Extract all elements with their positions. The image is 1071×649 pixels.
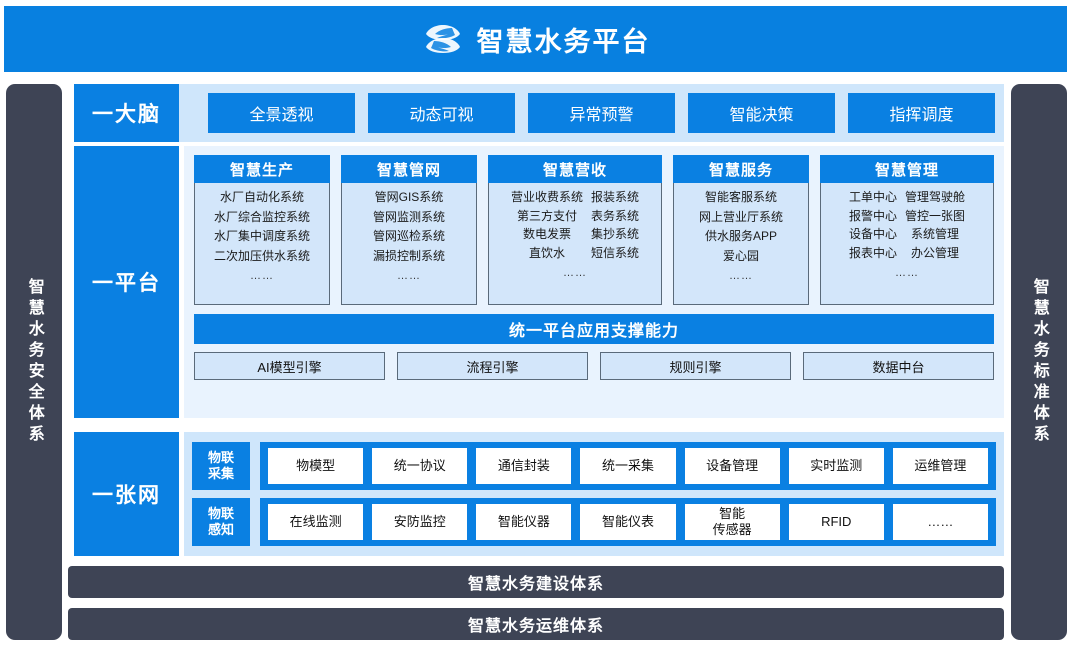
- engine-chip[interactable]: 流程引擎: [397, 352, 588, 380]
- app-column-title: 智慧生产: [194, 155, 330, 183]
- app-column-production: 智慧生产 水厂自动化系统 水厂综合监控系统 水厂集中调度系统 二次加压供水系统 …: [194, 155, 330, 305]
- app-column-title: 智慧管理: [820, 155, 994, 183]
- app-more-indicator: ……: [895, 265, 919, 282]
- brain-chip[interactable]: 指挥调度: [848, 93, 995, 133]
- network-chip[interactable]: 设备管理: [685, 448, 780, 484]
- app-column-service: 智慧服务 智能客服系统 网上营业厅系统 供水服务APP 爱心园 ……: [673, 155, 809, 305]
- brain-chip[interactable]: 智能决策: [688, 93, 835, 133]
- network-sub-label-line1: 物联: [208, 450, 234, 466]
- brain-chip[interactable]: 异常预警: [528, 93, 675, 133]
- app-item[interactable]: 办公管理: [911, 244, 959, 263]
- water-leaf-logo-icon: [421, 18, 465, 60]
- app-item[interactable]: 报装系统: [591, 188, 639, 207]
- app-item[interactable]: 爱心园: [723, 247, 759, 266]
- app-item[interactable]: 管网GIS系统: [375, 188, 444, 207]
- brain-layer: 一大脑 全景透视 动态可视 异常预警 智能决策 指挥调度: [74, 84, 1004, 142]
- engine-list: AI模型引擎 流程引擎 规则引擎 数据中台: [194, 352, 994, 380]
- app-header: 智慧水务平台: [4, 6, 1067, 72]
- app-column-title: 智慧管网: [341, 155, 477, 183]
- app-column-pipe-network: 智慧管网 管网GIS系统 管网监测系统 管网巡检系统 漏损控制系统 ……: [341, 155, 477, 305]
- app-column-title: 智慧服务: [673, 155, 809, 183]
- network-sub-label-line2: 采集: [208, 466, 234, 482]
- bottom-bar-operations: 智慧水务运维体系: [68, 608, 1004, 640]
- network-sub-label-line1: 物联: [208, 506, 234, 522]
- app-item[interactable]: 水厂集中调度系统: [214, 227, 310, 246]
- app-item[interactable]: 漏损控制系统: [373, 247, 445, 266]
- platform-layer: 一平台 智慧生产 水厂自动化系统 水厂综合监控系统 水厂集中调度系统 二次加压供…: [74, 146, 1004, 418]
- app-column-revenue: 智慧营收 营业收费系统 报装系统 第三方支付 表务系统 数电发票 集抄系统 直饮…: [488, 155, 662, 305]
- app-column-body: 管网GIS系统 管网监测系统 管网巡检系统 漏损控制系统 ……: [341, 183, 477, 305]
- app-more-indicator: ……: [563, 265, 587, 282]
- network-sub-label-sensing: 物联 感知: [192, 498, 250, 546]
- network-chip[interactable]: 智能传感器: [685, 504, 780, 540]
- network-chip[interactable]: 统一协议: [372, 448, 467, 484]
- engine-chip[interactable]: 规则引擎: [600, 352, 791, 380]
- app-item[interactable]: 报表中心: [849, 244, 897, 263]
- engine-chip[interactable]: AI模型引擎: [194, 352, 385, 380]
- side-panel-security: 智慧水务安全体系: [6, 84, 62, 640]
- app-item[interactable]: 供水服务APP: [705, 227, 777, 246]
- app-item-grid: 工单中心 管理驾驶舱 报警中心 管控一张图 设备中心 系统管理 报表中心 办公管…: [849, 188, 965, 262]
- brain-chip[interactable]: 动态可视: [368, 93, 515, 133]
- brain-layer-label: 一大脑: [74, 84, 179, 142]
- app-more-indicator: ……: [397, 268, 421, 285]
- network-chip[interactable]: 运维管理: [893, 448, 988, 484]
- network-chip[interactable]: RFID: [789, 504, 884, 540]
- brain-chip[interactable]: 全景透视: [208, 93, 355, 133]
- application-columns: 智慧生产 水厂自动化系统 水厂综合监控系统 水厂集中调度系统 二次加压供水系统 …: [194, 155, 994, 305]
- app-column-body: 工单中心 管理驾驶舱 报警中心 管控一张图 设备中心 系统管理 报表中心 办公管…: [820, 183, 994, 305]
- app-item[interactable]: 网上营业厅系统: [699, 208, 783, 227]
- app-item[interactable]: 短信系统: [591, 244, 639, 263]
- app-item[interactable]: 二次加压供水系统: [214, 247, 310, 266]
- network-layer: 一张网 物联 采集 物模型 统一协议 通信封装 统一采集 设备管理 实时监测 运…: [74, 432, 1004, 556]
- app-item[interactable]: 直饮水: [529, 244, 565, 263]
- network-chip[interactable]: 智能仪表: [580, 504, 675, 540]
- side-panel-standards-label: 智慧水务标准体系: [1030, 278, 1048, 446]
- engine-chip[interactable]: 数据中台: [803, 352, 994, 380]
- bottom-bar-construction: 智慧水务建设体系: [68, 566, 1004, 598]
- network-chip[interactable]: ……: [893, 504, 988, 540]
- app-item[interactable]: 表务系统: [591, 207, 639, 226]
- app-more-indicator: ……: [250, 268, 274, 285]
- app-column-title: 智慧营收: [488, 155, 662, 183]
- app-item[interactable]: 设备中心: [849, 225, 897, 244]
- app-item[interactable]: 第三方支付: [517, 207, 577, 226]
- network-sub-label-collection: 物联 采集: [192, 442, 250, 490]
- app-item[interactable]: 水厂综合监控系统: [214, 208, 310, 227]
- app-item[interactable]: 管网巡检系统: [373, 227, 445, 246]
- app-column-body: 营业收费系统 报装系统 第三方支付 表务系统 数电发票 集抄系统 直饮水 短信系…: [488, 183, 662, 305]
- platform-layer-label: 一平台: [74, 146, 179, 418]
- side-panel-standards: 智慧水务标准体系: [1011, 84, 1067, 640]
- app-item-grid: 营业收费系统 报装系统 第三方支付 表务系统 数电发票 集抄系统 直饮水 短信系…: [511, 188, 639, 262]
- app-item[interactable]: 集抄系统: [591, 225, 639, 244]
- network-chip[interactable]: 通信封装: [476, 448, 571, 484]
- brain-chip-list: 全景透视 动态可视 异常预警 智能决策 指挥调度: [208, 93, 995, 133]
- app-item[interactable]: 系统管理: [911, 225, 959, 244]
- app-column-management: 智慧管理 工单中心 管理驾驶舱 报警中心 管控一张图 设备中心 系统管理 报表中…: [820, 155, 994, 305]
- network-chip[interactable]: 安防监控: [372, 504, 467, 540]
- network-chip[interactable]: 物模型: [268, 448, 363, 484]
- support-capability-bar: 统一平台应用支撑能力: [194, 314, 994, 344]
- side-panel-security-label: 智慧水务安全体系: [25, 278, 43, 446]
- network-chip-row-sensing: 在线监测 安防监控 智能仪器 智能仪表 智能传感器 RFID ……: [260, 498, 996, 546]
- app-item[interactable]: 管理驾驶舱: [905, 188, 965, 207]
- network-chip[interactable]: 统一采集: [580, 448, 675, 484]
- diagram-root: 智慧水务平台 智慧水务安全体系 智慧水务标准体系 一大脑 全景透视 动态可视 异…: [0, 0, 1071, 649]
- app-item[interactable]: 数电发票: [523, 225, 571, 244]
- app-item[interactable]: 工单中心: [849, 188, 897, 207]
- app-item[interactable]: 智能客服系统: [705, 188, 777, 207]
- network-sub-label-line2: 感知: [208, 522, 234, 538]
- network-chip[interactable]: 实时监测: [789, 448, 884, 484]
- app-more-indicator: ……: [729, 268, 753, 285]
- app-item[interactable]: 报警中心: [849, 207, 897, 226]
- app-item[interactable]: 营业收费系统: [511, 188, 583, 207]
- page-title: 智慧水务平台: [477, 20, 651, 59]
- network-chip-row-collection: 物模型 统一协议 通信封装 统一采集 设备管理 实时监测 运维管理: [260, 442, 996, 490]
- app-column-body: 智能客服系统 网上营业厅系统 供水服务APP 爱心园 ……: [673, 183, 809, 305]
- network-chip[interactable]: 在线监测: [268, 504, 363, 540]
- app-item[interactable]: 管控一张图: [905, 207, 965, 226]
- app-item[interactable]: 管网监测系统: [373, 208, 445, 227]
- app-column-body: 水厂自动化系统 水厂综合监控系统 水厂集中调度系统 二次加压供水系统 ……: [194, 183, 330, 305]
- platform-content: 智慧生产 水厂自动化系统 水厂综合监控系统 水厂集中调度系统 二次加压供水系统 …: [184, 146, 1004, 418]
- app-item[interactable]: 水厂自动化系统: [220, 188, 304, 207]
- network-layer-label: 一张网: [74, 432, 179, 556]
- network-chip[interactable]: 智能仪器: [476, 504, 571, 540]
- network-content: 物联 采集 物模型 统一协议 通信封装 统一采集 设备管理 实时监测 运维管理 …: [184, 432, 1004, 556]
